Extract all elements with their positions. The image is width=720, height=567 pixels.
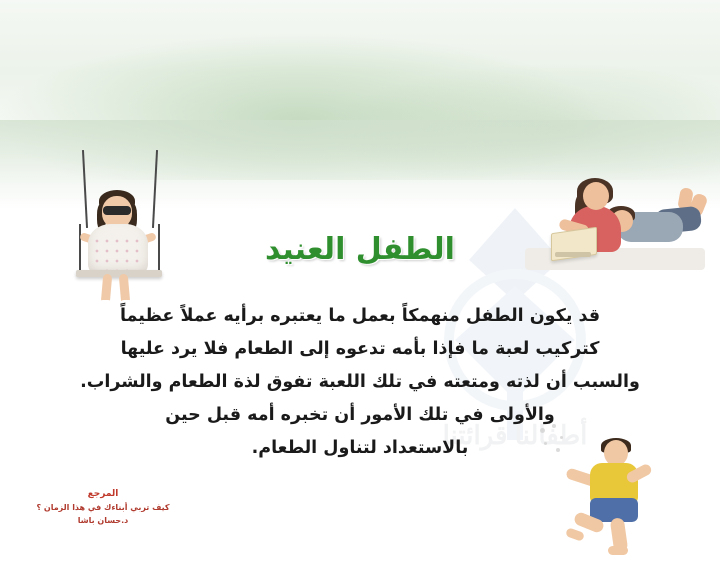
- body-line: والسبب أن لذته ومتعته في تلك اللعبة تفوق…: [40, 366, 680, 399]
- mother-head: [583, 182, 609, 210]
- girl-on-swing-photo: [62, 150, 182, 310]
- swing-rope-right: [152, 150, 158, 228]
- reference-book-title: كيف تربي أبناءك في هذا الزمان ؟: [28, 501, 178, 514]
- boy-foot-back: [565, 527, 585, 542]
- boy-foot-front: [608, 546, 628, 555]
- page-title: الطفل العنيد: [0, 232, 720, 267]
- body-line: كتركيب لعبة ما فإذا بأمه تدعوه إلى الطعا…: [40, 333, 680, 366]
- document-page: أطفالنا قرائتنا: [0, 0, 720, 567]
- dust-cloud: [538, 424, 584, 468]
- sunglasses-icon: [103, 206, 131, 215]
- reference-block: المرجع كيف تربي أبناءك في هذا الزمان ؟ د…: [28, 488, 178, 527]
- swing-rope-left: [82, 150, 88, 228]
- reference-heading: المرجع: [28, 488, 178, 501]
- body-line: والأولى في تلك الأمور أن تخبره أمه قبل ح…: [40, 399, 680, 432]
- running-boy-photo: [560, 438, 680, 556]
- reference-author: د.حسان باشا: [28, 514, 178, 527]
- body-line: قد يكون الطفل منهمكاً بعمل ما يعتبره برأ…: [40, 300, 680, 333]
